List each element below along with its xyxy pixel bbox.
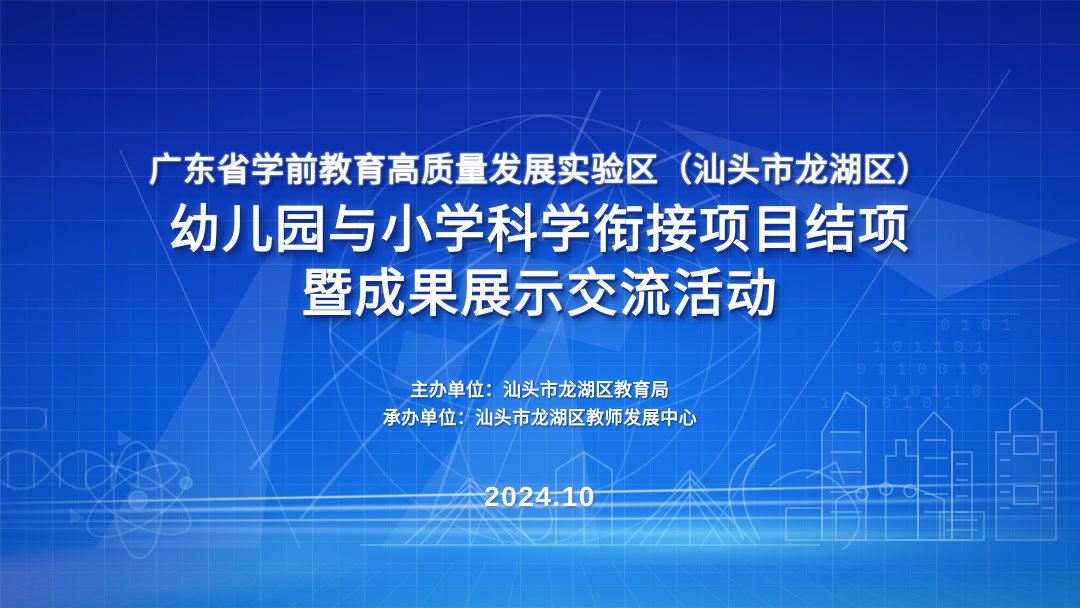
poster-title-line-1: 幼儿园与小学科学衔接项目结项 xyxy=(169,200,911,260)
poster-content: 广东省学前教育高质量发展实验区（汕头市龙湖区） 幼儿园与小学科学衔接项目结项 暨… xyxy=(0,0,1080,608)
organizer-line: 承办单位：汕头市龙湖区教师发展中心 xyxy=(383,405,698,433)
poster-date: 2024.10 xyxy=(484,481,596,513)
host-line: 主办单位：汕头市龙湖区教育局 xyxy=(383,377,698,405)
poster-title-line-2: 暨成果展示交流活动 xyxy=(301,264,778,324)
poster-kicker: 广东省学前教育高质量发展实验区（汕头市龙湖区） xyxy=(149,143,931,191)
organizer-block: 主办单位：汕头市龙湖区教育局 承办单位：汕头市龙湖区教师发展中心 xyxy=(383,377,698,433)
event-poster: 1 0 1 1 0 1 0 1 1 0 0 1 0 1 0 1 1 0 0 1 … xyxy=(0,0,1080,608)
